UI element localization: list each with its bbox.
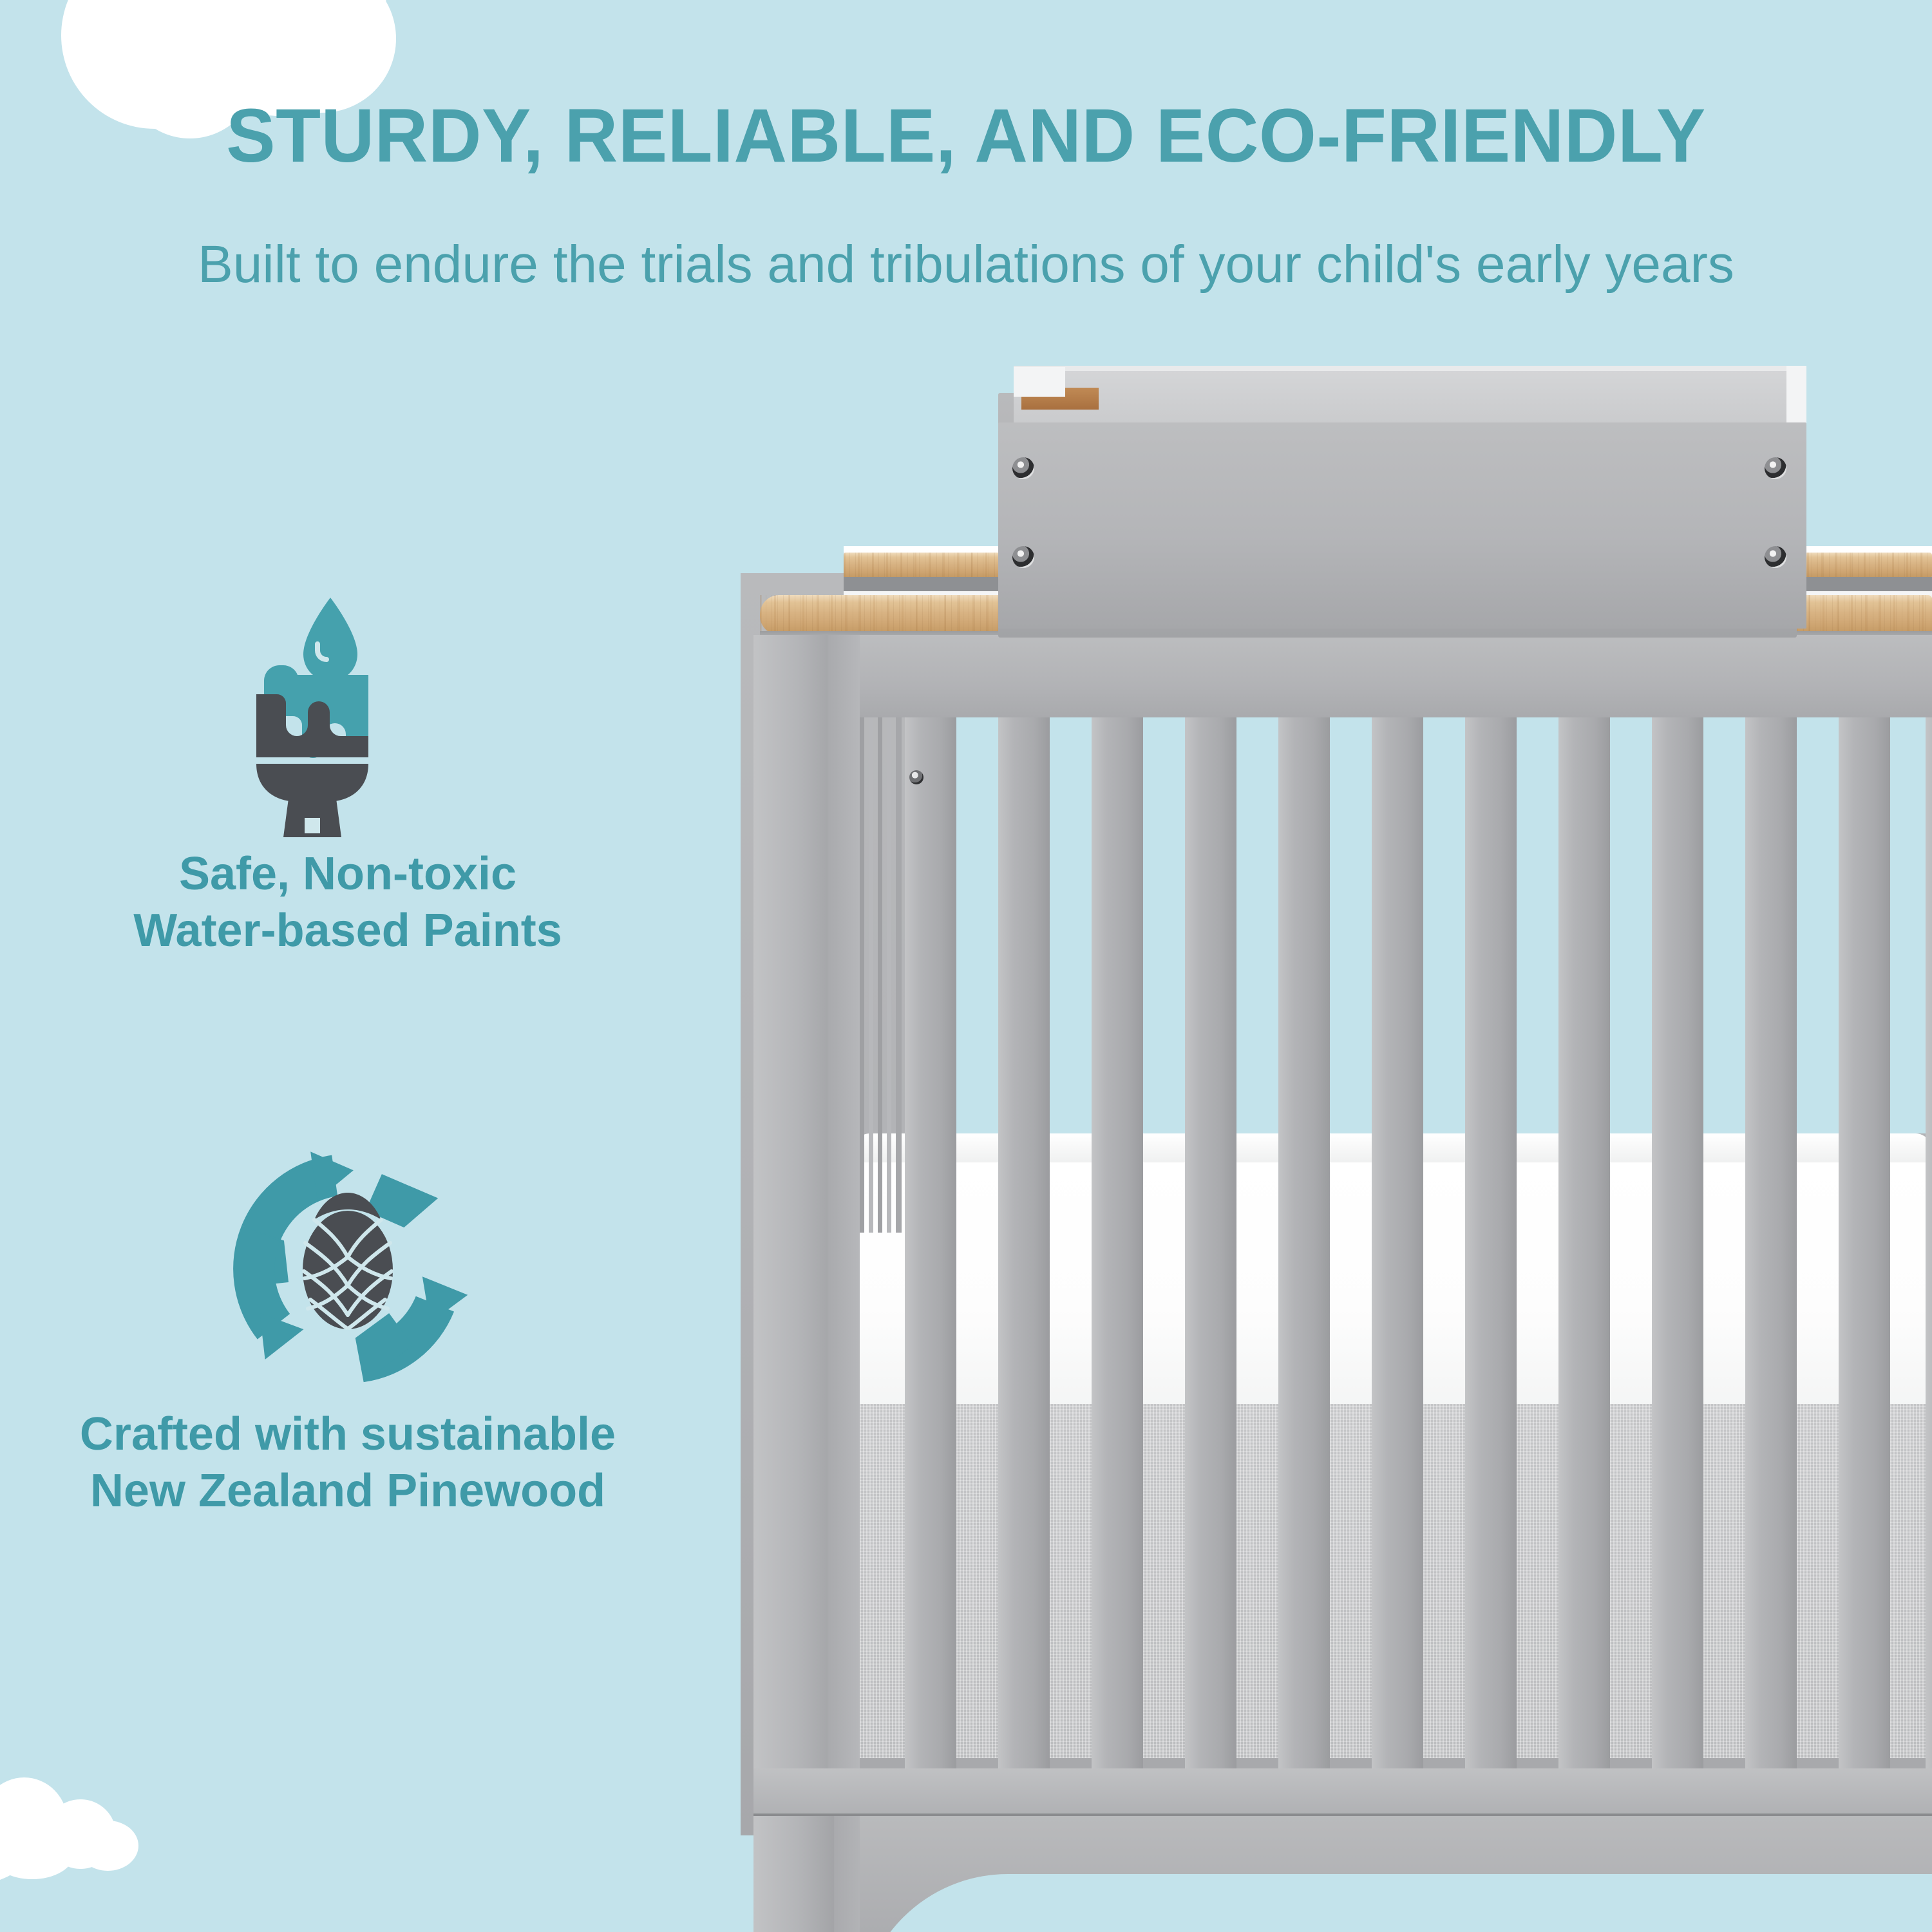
- changing-tray: [998, 393, 1797, 638]
- paintbrush-waterdrop-icon: [26, 592, 670, 837]
- feature-sustainable-wood: Crafted with sustainable New Zealand Pin…: [26, 1140, 670, 1520]
- crib-leg: [753, 1816, 834, 1932]
- crib-side-panel: [828, 635, 860, 1820]
- page-title: STURDY, RELIABLE, AND ECO-FRIENDLY: [29, 98, 1903, 174]
- hardware-screw-cap: [1765, 457, 1786, 479]
- cloud-puff: [0, 1828, 74, 1879]
- page-subtitle: Built to endure the trials and tribulati…: [0, 238, 1932, 291]
- cloud-puff: [77, 1821, 138, 1871]
- hardware-screw-cap: [1012, 546, 1034, 568]
- crib-corner-post: [753, 635, 834, 1820]
- crib-lower-rail: [753, 1768, 1932, 1815]
- recycle-pinecone-icon: [26, 1140, 670, 1397]
- hardware-screw-cap: [1012, 457, 1034, 479]
- marketing-banner: STURDY, RELIABLE, AND ECO-FRIENDLY Built…: [0, 0, 1932, 1932]
- crib-product-image: [741, 399, 1932, 1906]
- feature-paint: Safe, Non-toxic Water-based Paints: [26, 592, 670, 960]
- feature-paint-label: Safe, Non-toxic Water-based Paints: [26, 846, 670, 960]
- hardware-screw-cap: [1765, 546, 1786, 568]
- cloud-bottom-left-decoration: [0, 1766, 174, 1885]
- feature-wood-label: Crafted with sustainable New Zealand Pin…: [26, 1406, 670, 1520]
